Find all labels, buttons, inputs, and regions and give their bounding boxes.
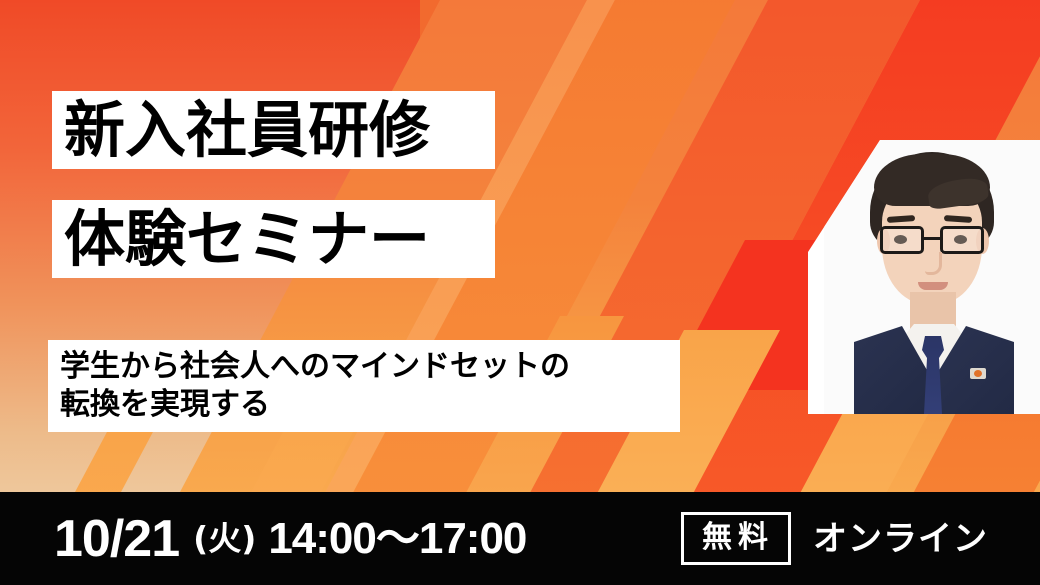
photo-mouth [918, 282, 948, 290]
subtitle-plate: 学生から社会人へのマインドセットの 転換を実現する [48, 340, 680, 432]
headline-line-1: 新入社員研修 [64, 100, 430, 161]
event-day-of-week: (火) [193, 522, 256, 555]
footer-bar: 10/21 (火) 14:00〜17:00 無料 オンライン [0, 492, 1040, 585]
photo-lapel-pin [970, 368, 986, 379]
glasses-lens-right [940, 226, 984, 254]
format-label: オンライン [813, 522, 988, 556]
speaker-photo [824, 140, 1040, 414]
event-date: 10/21 [54, 513, 179, 565]
photo-nose [925, 252, 942, 275]
headline-line-2: 体験セミナー [64, 209, 430, 270]
event-datetime: 10/21 (火) 14:00〜17:00 [54, 492, 526, 585]
headline-plate-2: 体験セミナー [52, 200, 495, 278]
photo-fringe [874, 154, 990, 206]
event-meta: 無料 オンライン [681, 492, 988, 585]
event-time: 14:00〜17:00 [268, 517, 526, 561]
seminar-poster: 新入社員研修 体験セミナー 学生から社会人へのマインドセットの 転換を実現する … [0, 0, 1040, 585]
glasses-lens-left [880, 226, 924, 254]
headline-plate-1: 新入社員研修 [52, 91, 495, 169]
price-badge: 無料 [681, 512, 791, 565]
subtitle-text: 学生から社会人へのマインドセットの 転換を実現する [60, 348, 570, 425]
